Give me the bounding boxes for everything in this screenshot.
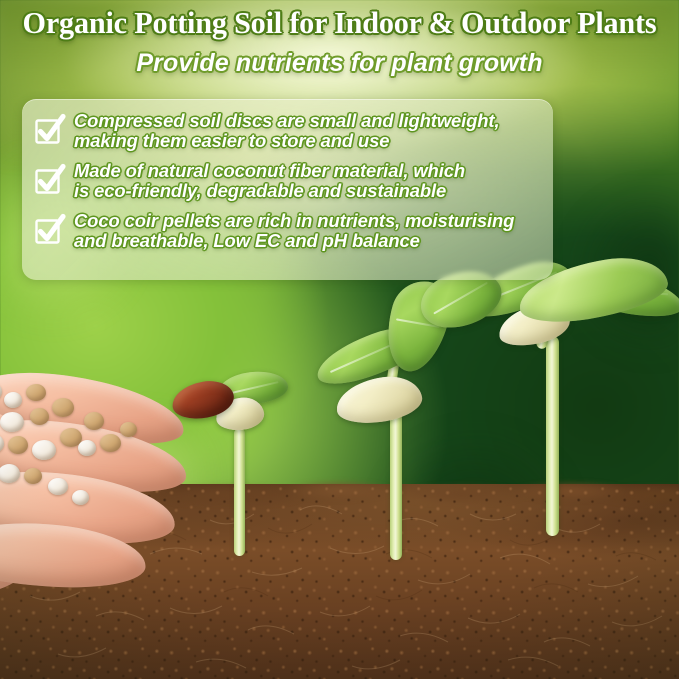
checkbox-checked-icon xyxy=(34,112,64,152)
page-subtitle: Provide nutrients for plant growth xyxy=(0,49,679,78)
feature-text: Compressed soil discs are small and ligh… xyxy=(74,111,499,151)
feature-item: Made of natural coconut fiber material, … xyxy=(28,161,553,202)
checkbox-checked-icon xyxy=(34,212,64,252)
feature-list: Compressed soil discs are small and ligh… xyxy=(22,99,553,280)
checkbox-checked-icon xyxy=(34,162,64,202)
feature-text: Coco coir pellets are rich in nutrients,… xyxy=(74,211,514,251)
feature-item: Compressed soil discs are small and ligh… xyxy=(28,111,553,152)
page-title: Organic Potting Soil for Indoor & Outdoo… xyxy=(3,6,675,41)
feature-item: Coco coir pellets are rich in nutrients,… xyxy=(28,211,553,252)
feature-text: Made of natural coconut fiber material, … xyxy=(74,161,465,201)
product-poster: Organic Potting Soil for Indoor & Outdoo… xyxy=(0,0,679,679)
feature-panel: Compressed soil discs are small and ligh… xyxy=(22,99,553,280)
